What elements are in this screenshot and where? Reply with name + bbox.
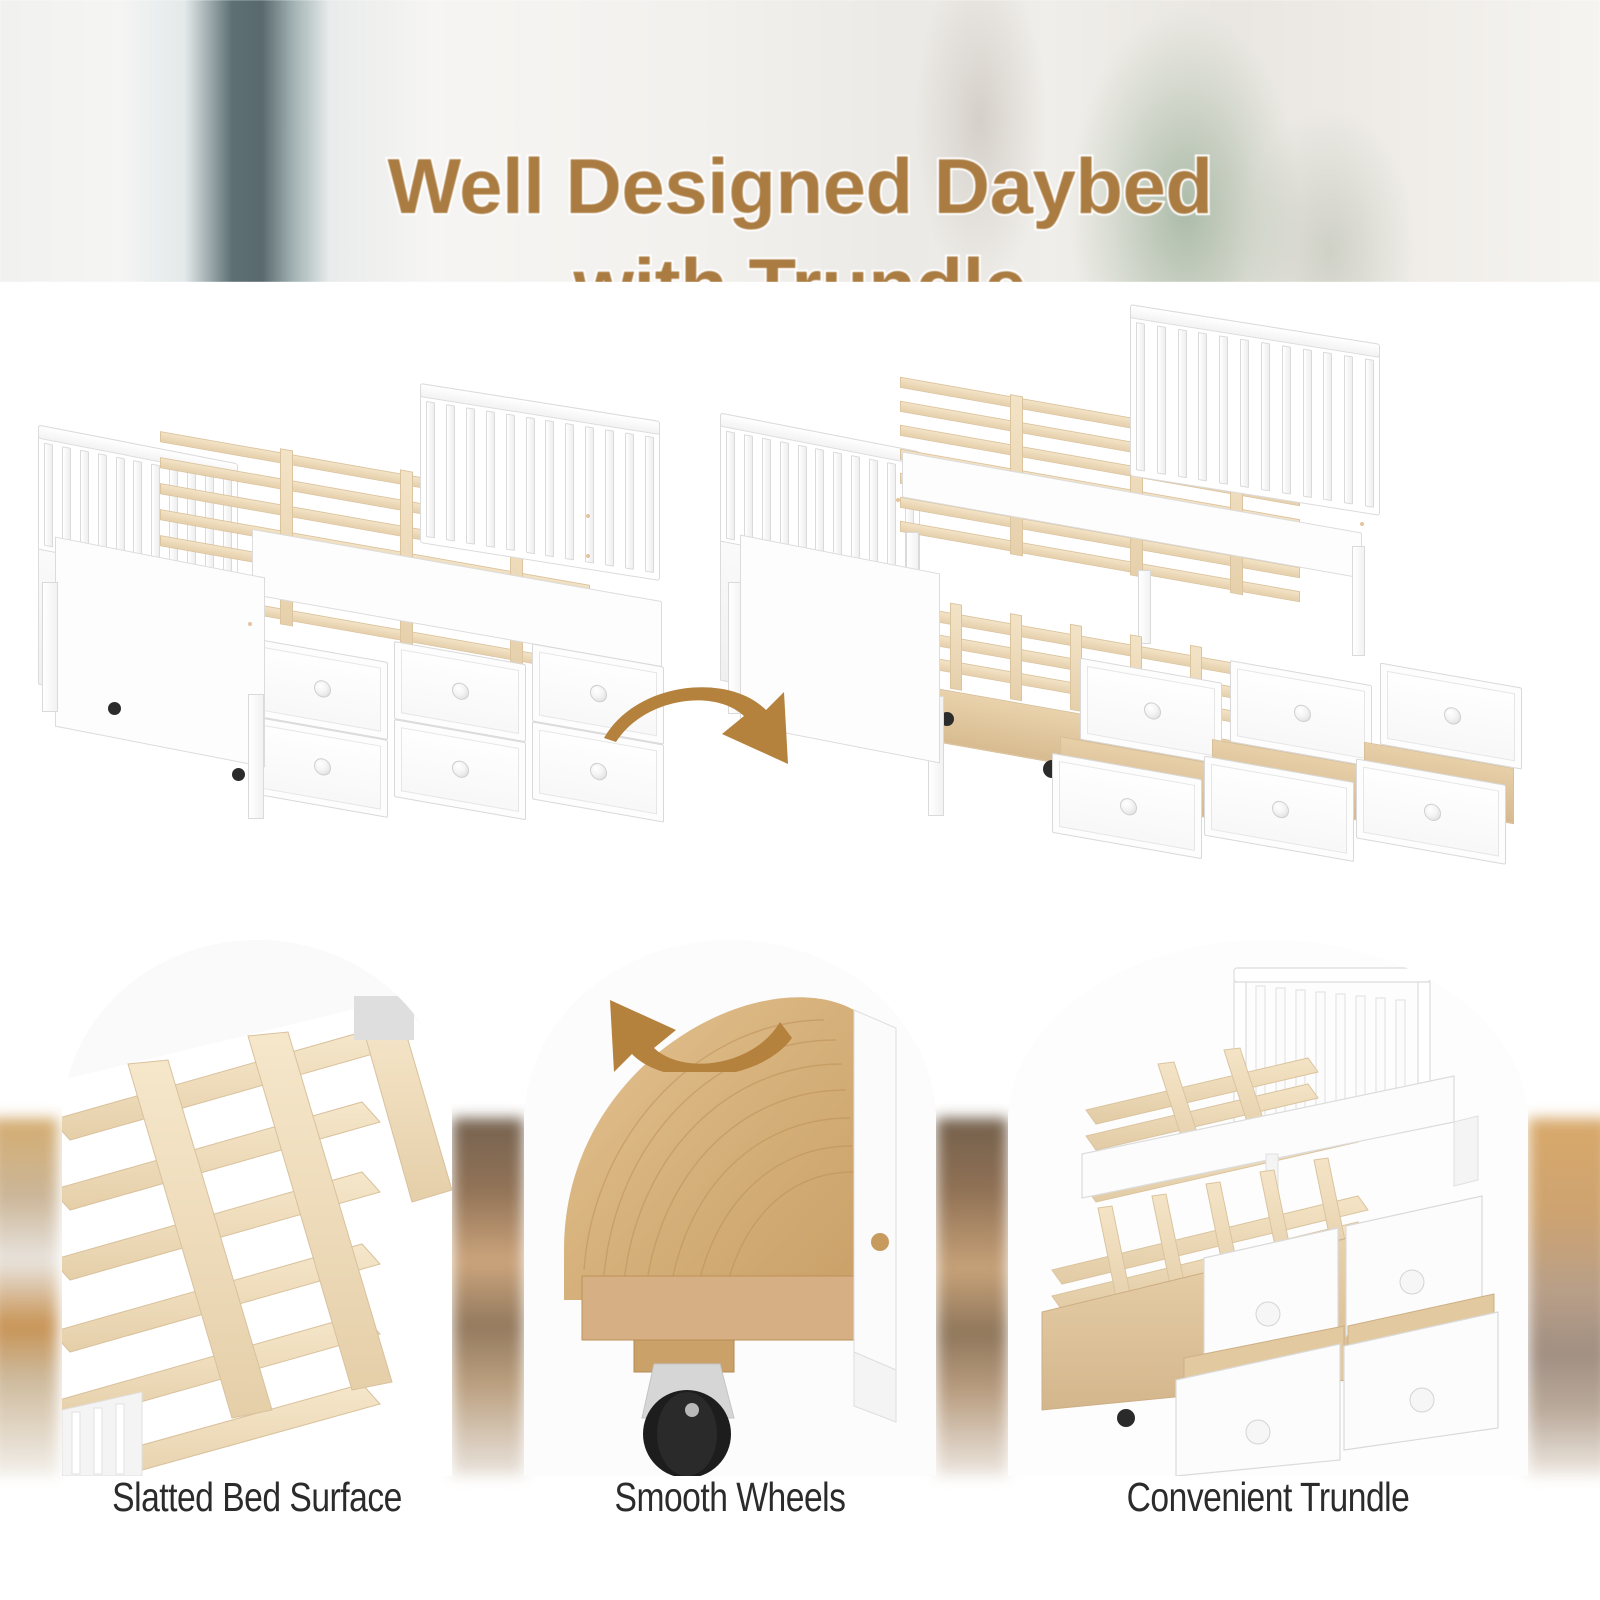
decor-strip-2 [936,1118,1008,1476]
decor-strip-left [0,1118,58,1476]
slat-grid-illustration [62,940,452,1476]
feature-caption-slatted-bed-surface: Slatted Bed Surface [97,1474,417,1521]
page-title-line2: with Trundle [0,236,1600,282]
product-comparison [0,282,1600,922]
feature-panel-convenient-trundle [1008,940,1528,1476]
feature-caption-convenient-trundle: Convenient Trundle [1055,1474,1481,1521]
feature-image-convenient-trundle [1008,940,1528,1476]
bed-leg [42,582,58,712]
page-title: Well Designed Daybed with Trundle [0,36,1600,282]
product-infographic: Well Designed Daybed with Trundle [0,0,1600,1600]
bed-leg [248,694,264,819]
daybed-open [700,282,1590,902]
trundle-illustration [1008,940,1528,1476]
trundle-closed-panel [55,537,265,768]
arrow-top-right-icon [604,687,788,764]
drawer-bank-right [1080,600,1560,885]
caster-wheel [108,702,121,715]
hero-banner: Well Designed Daybed with Trundle [0,0,1600,282]
caster-wheel [232,768,245,781]
page-title-line1: Well Designed Daybed [387,142,1212,230]
feature-caption-smooth-wheels: Smooth Wheels [561,1474,899,1521]
transform-arrows [588,672,808,1072]
decor-strip-right [1528,1118,1600,1476]
feature-image-slatted-bed-surface [62,940,452,1476]
feature-panel-slatted-bed-surface [62,940,452,1476]
arrow-bottom-left-icon [610,1000,792,1072]
decor-strip-1 [452,1118,524,1476]
bed-leg [1352,546,1365,656]
